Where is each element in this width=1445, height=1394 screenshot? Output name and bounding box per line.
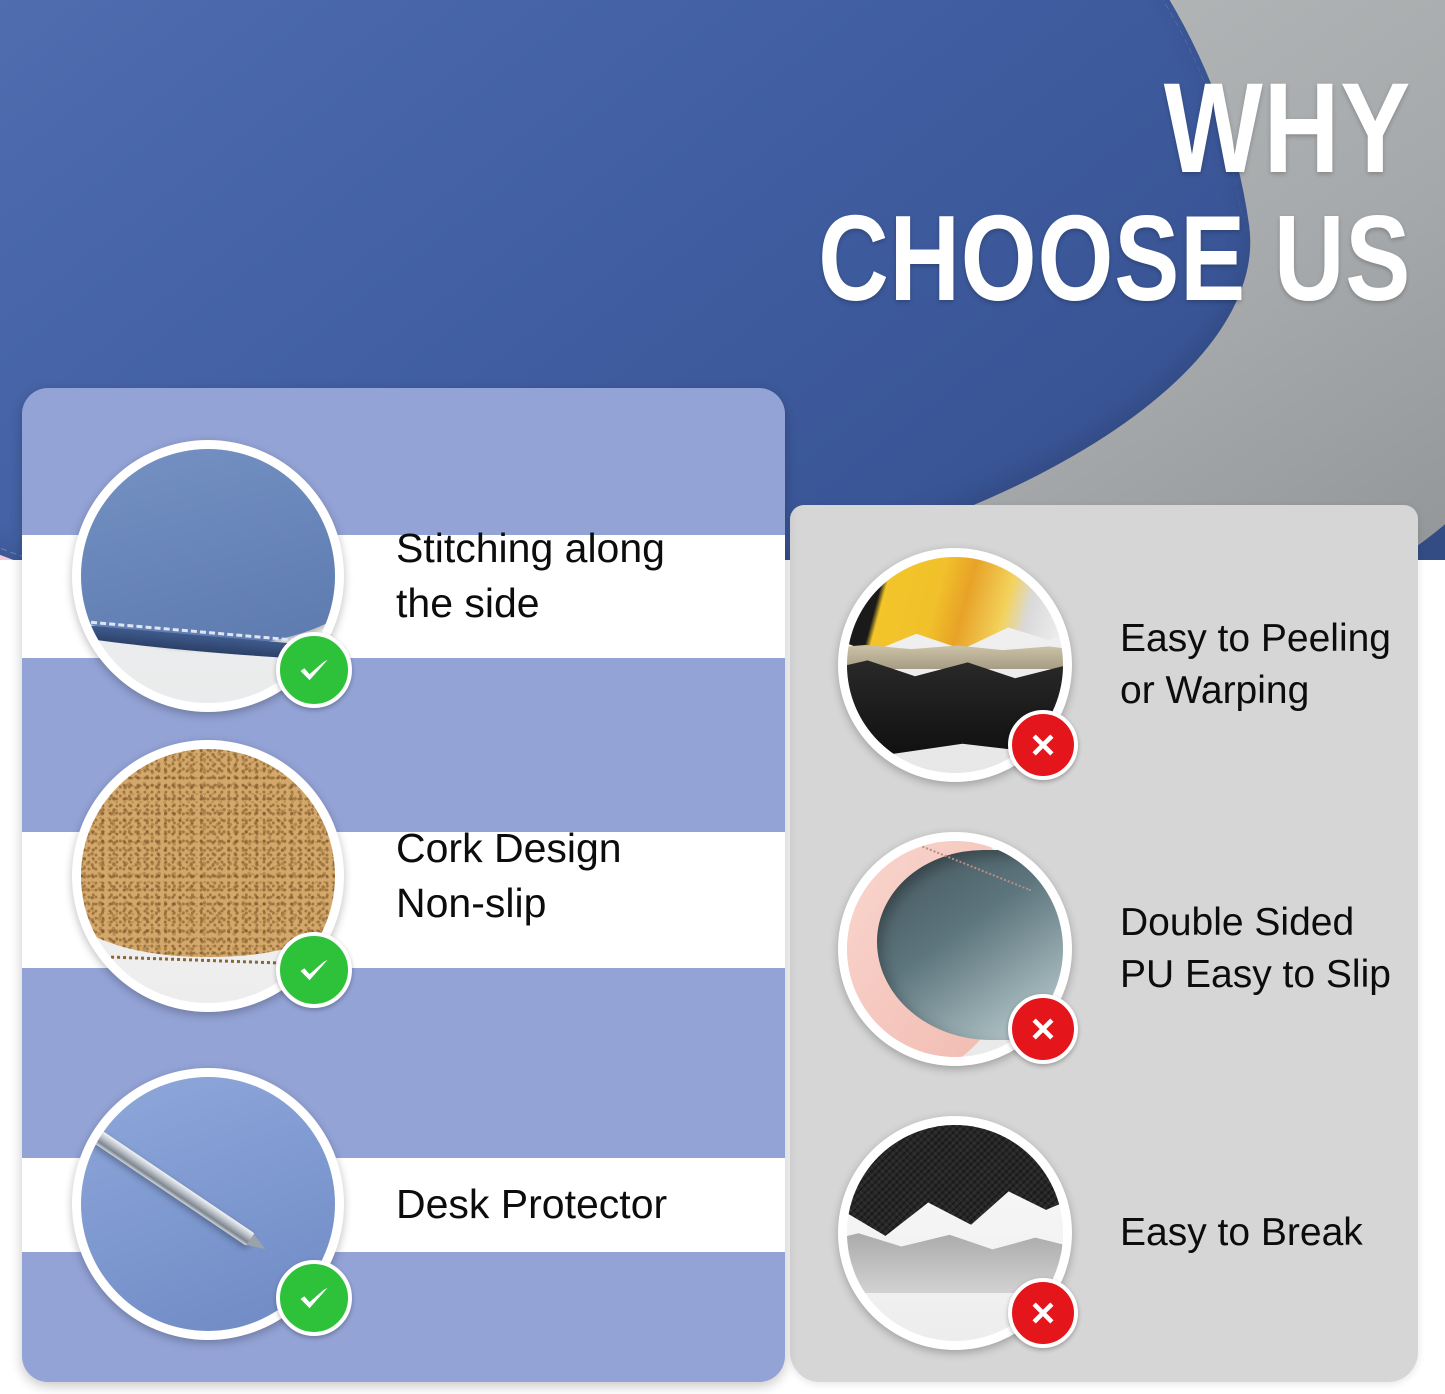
cross-icon <box>1008 1278 1078 1348</box>
cons-feature-label-3: Easy to Break <box>1120 1207 1363 1259</box>
pros-feature-label-1: Stitching along the side <box>396 521 665 631</box>
infographic-canvas: WHY CHOOSE US <box>0 0 1445 1394</box>
pros-thumb-wrap-3 <box>72 1068 344 1340</box>
cons-thumb-wrap-2 <box>838 832 1072 1066</box>
pros-feature-2: Cork Design Non-slip <box>72 740 622 1012</box>
cons-feature-label-1: Easy to Peeling or Warping <box>1120 613 1391 718</box>
cons-feature-1: Easy to Peeling or Warping <box>838 548 1391 782</box>
cons-thumb-wrap-3 <box>838 1116 1072 1350</box>
cons-thumb-wrap-1 <box>838 548 1072 782</box>
cross-icon <box>1008 994 1078 1064</box>
pros-feature-label-3: Desk Protector <box>396 1177 667 1232</box>
cons-feature-3: Easy to Break <box>838 1116 1363 1350</box>
cons-feature-2: Double Sided PU Easy to Slip <box>838 832 1391 1066</box>
pros-thumb-wrap-2 <box>72 740 344 1012</box>
check-icon <box>276 632 352 708</box>
pros-feature-3: Desk Protector <box>72 1068 667 1340</box>
pros-thumb-wrap-1 <box>72 440 344 712</box>
check-icon <box>276 1260 352 1336</box>
pros-feature-1: Stitching along the side <box>72 440 665 712</box>
cross-icon <box>1008 710 1078 780</box>
check-icon <box>276 932 352 1008</box>
pros-feature-label-2: Cork Design Non-slip <box>396 821 622 931</box>
cons-feature-label-2: Double Sided PU Easy to Slip <box>1120 897 1391 1002</box>
